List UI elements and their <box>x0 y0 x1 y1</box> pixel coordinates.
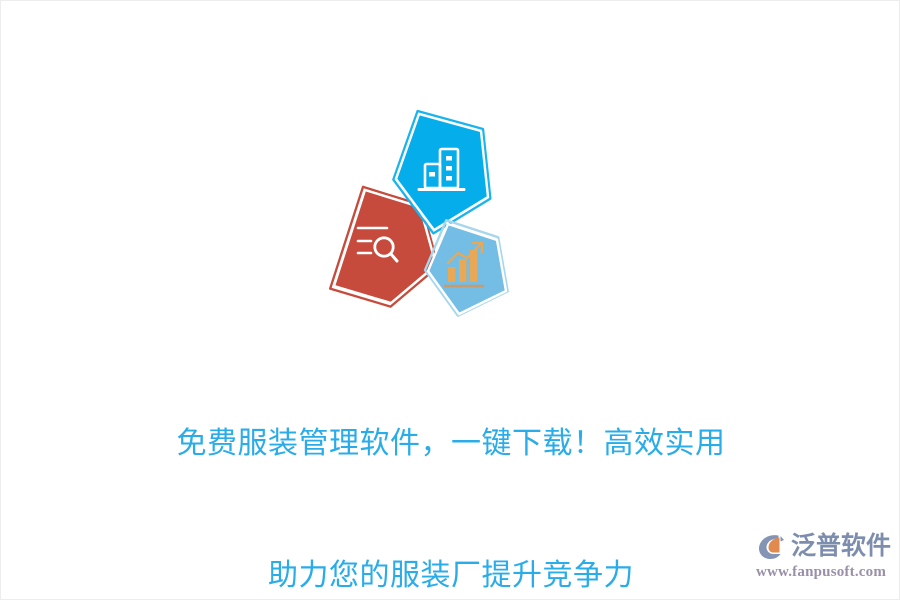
pentagon-lightblue <box>425 220 508 315</box>
logo-wedge-shape <box>781 536 785 542</box>
headline-line-1: 免费服装管理软件，一键下载！高效实用 <box>1 422 900 466</box>
pentagon-icon-cluster <box>301 101 531 321</box>
watermark-brand-row: 泛普软件 <box>755 527 887 565</box>
page-root: 免费服装管理软件，一键下载！高效实用 助力您的服装厂提升竞争力 泛普软件 www… <box>0 0 900 600</box>
watermark-logo: 泛普软件 www.fanpusoft.com <box>755 527 887 589</box>
fanpu-logo-icon <box>755 529 789 563</box>
watermark-url-text: www.fanpusoft.com <box>755 564 887 581</box>
watermark-brand-text: 泛普软件 <box>791 529 891 563</box>
